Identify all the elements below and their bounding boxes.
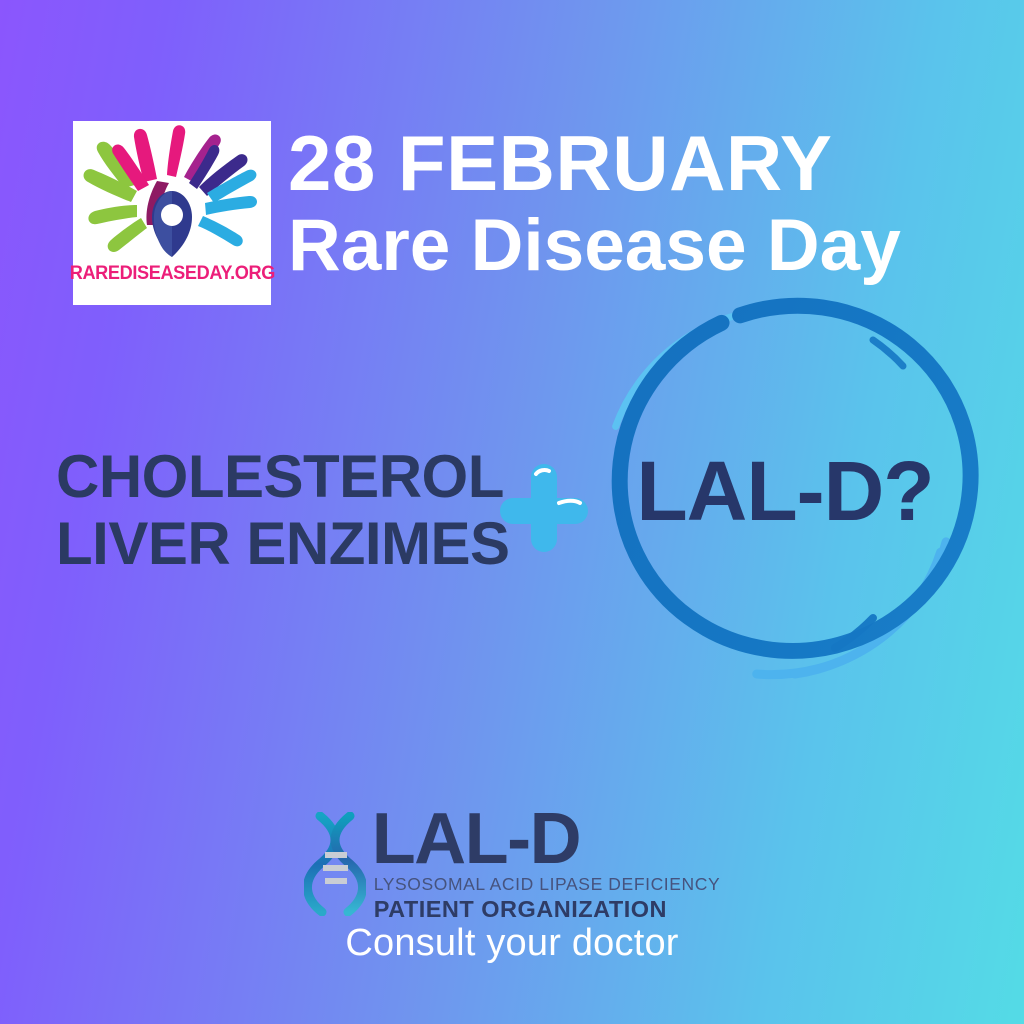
date-heading: 28 FEBRUARY	[288, 126, 978, 200]
footer-logo-subtitle-1: LYSOSOMAL ACID LIPASE DEFICIENCY	[374, 874, 721, 895]
event-heading: Rare Disease Day	[288, 208, 978, 285]
rare-disease-day-logo: RAREDISEASEDAY.ORG	[73, 121, 271, 305]
helping-hands-icon	[79, 125, 265, 263]
lald-patient-organization-logo: LAL-D LYSOSOMAL ACID LIPASE DEFICIENCY P…	[0, 808, 1024, 923]
rare-disease-day-poster: RAREDISEASEDAY.ORG 28 FEBRUARY Rare Dise…	[0, 0, 1024, 1024]
footer-logo-title: LAL-D	[372, 808, 721, 871]
footer-logo-text: LAL-D LYSOSOMAL ACID LIPASE DEFICIENCY P…	[372, 808, 721, 923]
dna-helix-icon	[304, 812, 366, 916]
lald-question-label: LAL-D?	[573, 296, 983, 686]
call-to-action-text: Consult your doctor	[0, 922, 1024, 965]
rare-disease-day-url: RAREDISEASEDAY.ORG	[69, 264, 274, 284]
footer-logo-subtitle-2: PATIENT ORGANIZATION	[374, 896, 721, 923]
header-block: 28 FEBRUARY Rare Disease Day	[288, 126, 978, 285]
plus-icon	[495, 458, 593, 558]
